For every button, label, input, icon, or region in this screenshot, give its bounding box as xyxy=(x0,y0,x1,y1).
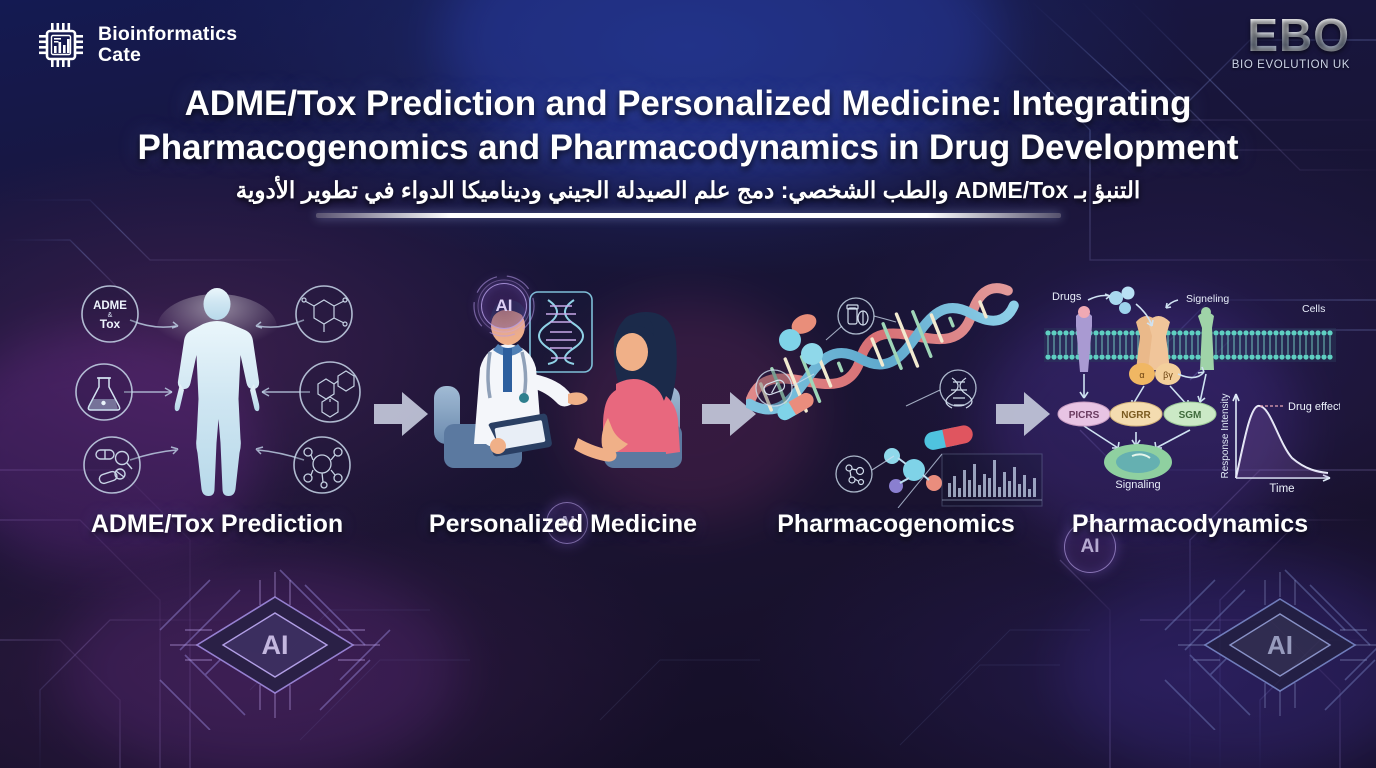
effector-c-label: SGM xyxy=(1179,410,1202,421)
chart-ylabel: Response Intensity xyxy=(1220,393,1231,478)
subunit-left-label: α xyxy=(1139,370,1144,380)
infographic-canvas: AI AI xyxy=(0,0,1376,768)
brand-logo-left-text: Bioinformatics Cate xyxy=(98,24,237,66)
ebo-wordmark: EBO xyxy=(1232,14,1350,58)
tox-label: Tox xyxy=(100,317,121,331)
effector-nodes: PICRS NGRR SGM xyxy=(1058,402,1216,426)
microchip-logo-icon xyxy=(36,20,86,70)
process-flow: ADME & Tox ADME/Tox Prediction xyxy=(0,278,1376,558)
drug-effect-chart: Drug effect Time Response Intensity xyxy=(1220,393,1340,495)
ebo-tagline: BIO EVOLUTION UK xyxy=(1232,59,1350,71)
page-title-line-1: ADME/Tox Prediction and Personalized Med… xyxy=(60,82,1316,126)
pills-node xyxy=(84,437,140,493)
page-title: ADME/Tox Prediction and Personalized Med… xyxy=(0,82,1376,170)
signaling-top-label: Signeling xyxy=(1186,293,1229,305)
brand-line-2: Cate xyxy=(98,45,237,66)
glow-bottom-right xyxy=(1060,560,1376,768)
dna-frame xyxy=(530,292,592,372)
pharmacodynamics-diagram: α βγ xyxy=(1040,282,1340,507)
page-subtitle-arabic: التنبؤ بـ ADME/Tox والطب الشخصي: دمج علم… xyxy=(0,177,1376,204)
brand-logo-left[interactable]: Bioinformatics Cate xyxy=(36,20,237,70)
effector-a-label: PICRS xyxy=(1069,410,1100,421)
panel-label-pharmacogenomics: Pharmacogenomics xyxy=(777,510,1015,539)
panel-personalized-medicine[interactable]: AI AI Personalized Medicine xyxy=(418,278,708,538)
drugs-label: Drugs xyxy=(1052,291,1082,303)
signaling-bottom-label: Signaling xyxy=(1115,479,1160,491)
panel-label-adme-tox: ADME/Tox Prediction xyxy=(91,510,343,539)
doctor-patient-illustration xyxy=(418,278,708,503)
adme-label: ADME xyxy=(93,300,127,312)
ai-badge-pharmacodynamics-label: AI xyxy=(1081,536,1100,558)
drug-molecules xyxy=(1109,287,1135,315)
flask-node xyxy=(76,364,132,420)
pill-bottle-node xyxy=(838,298,874,334)
svg-text:AI: AI xyxy=(262,630,289,660)
ai-chip-right: AI xyxy=(1160,560,1376,730)
brand-line-1: Bioinformatics xyxy=(98,24,237,45)
title-underline xyxy=(316,213,1061,218)
effector-b-label: NGRR xyxy=(1121,410,1151,421)
panel-label-personalized-medicine: Personalized Medicine xyxy=(429,510,697,539)
glow-bottom-left xyxy=(60,560,460,768)
molecule-bonds-node xyxy=(294,437,350,493)
ai-chip-left: AI xyxy=(150,560,400,730)
ai-badge-top-ring xyxy=(472,274,536,338)
molecule-ring-node xyxy=(296,286,352,342)
drug-effect-label: Drug effect xyxy=(1288,401,1340,413)
molecule-cluster xyxy=(884,448,942,493)
adme-tox-diagram: ADME & Tox xyxy=(72,280,362,505)
chart-xlabel: Time xyxy=(1269,483,1294,495)
cells-label: Cells xyxy=(1302,303,1325,315)
panel-adme-tox-prediction[interactable]: ADME & Tox ADME/Tox Prediction xyxy=(72,278,362,538)
panel-pharmacodynamics[interactable]: α βγ xyxy=(1040,278,1340,538)
brand-logo-right[interactable]: EBO BIO EVOLUTION UK xyxy=(1232,14,1350,71)
molecule-cluster-node xyxy=(836,456,872,492)
molecule-pair-node xyxy=(300,362,360,422)
svg-text:AI: AI xyxy=(1267,630,1293,660)
nucleus-shape xyxy=(1104,444,1172,480)
page-title-line-2: Pharmacogenomics and Pharmacodynamics in… xyxy=(60,126,1316,170)
panel-label-pharmacodynamics: Pharmacodynamics xyxy=(1072,510,1308,539)
subunit-right-label: βγ xyxy=(1163,370,1173,380)
title-block: ADME/Tox Prediction and Personalized Med… xyxy=(0,82,1376,218)
